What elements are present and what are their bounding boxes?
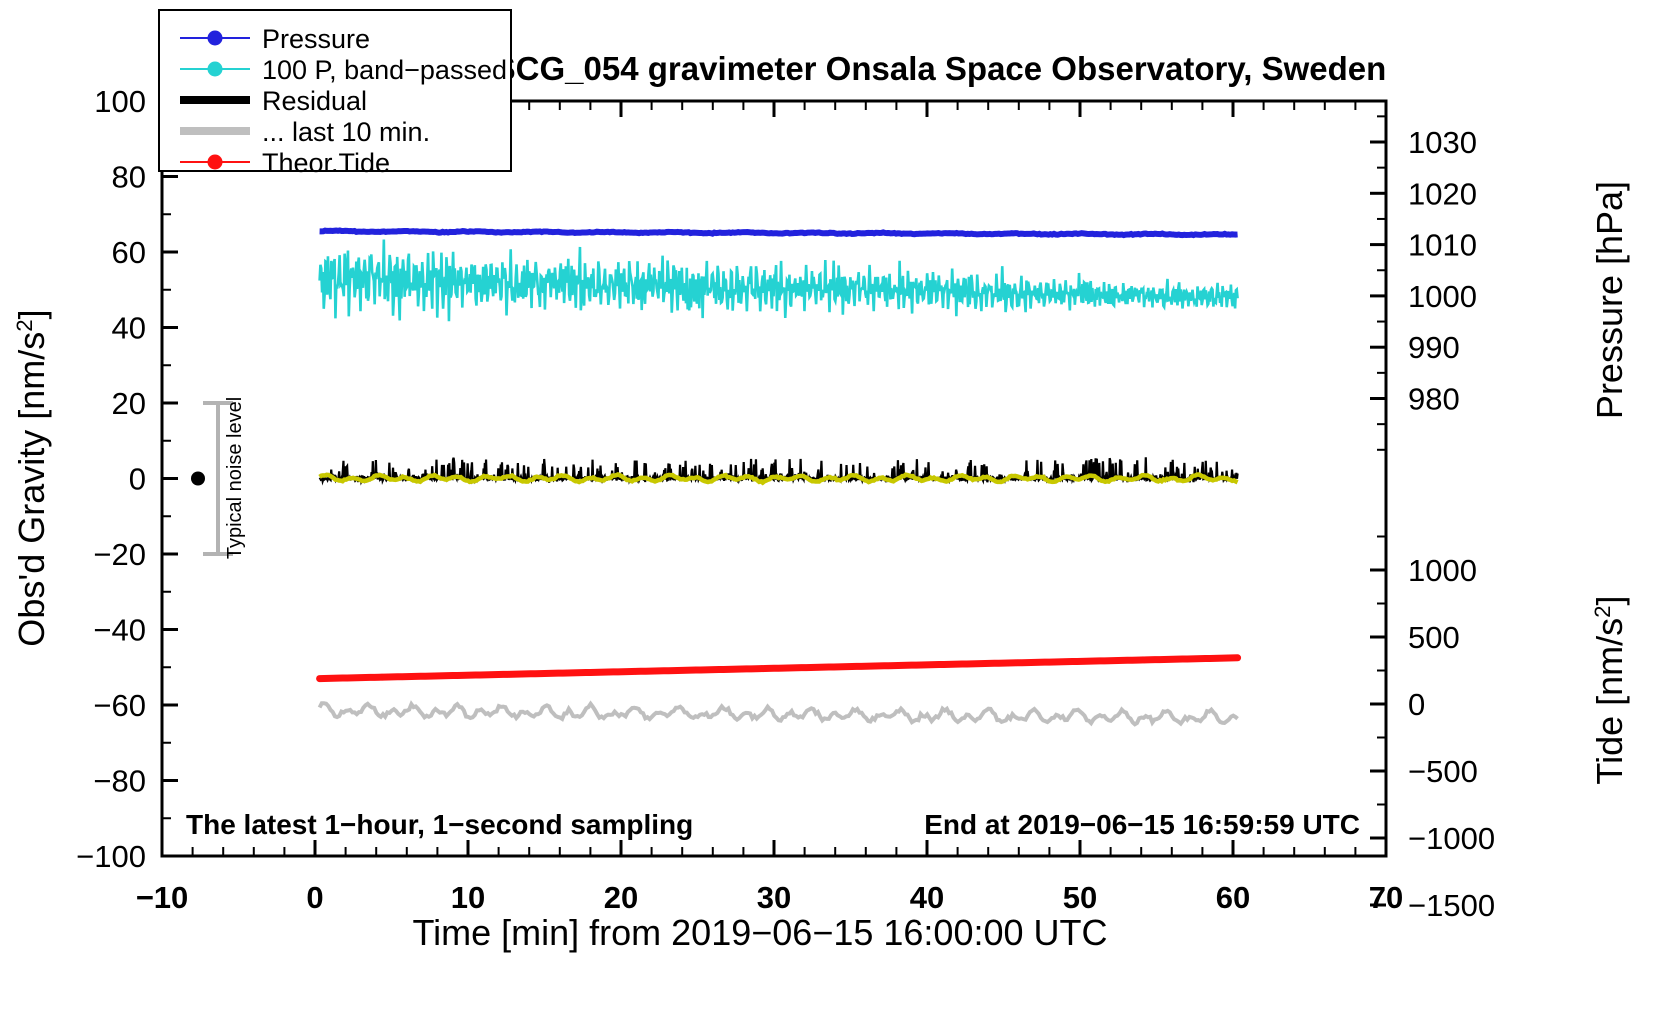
pressure-tick-label: 1000 <box>1408 279 1477 314</box>
pressure-tick-label: 990 <box>1408 330 1460 365</box>
left-axis-title: Obs'd Gravity [nm/s2] <box>11 309 52 646</box>
y-tick-label: 60 <box>112 235 146 270</box>
chart-root: Typical noise level −1001020304050607010… <box>0 0 1660 1020</box>
y-tick-label: 0 <box>129 462 146 497</box>
y-tick-label: 100 <box>94 84 146 119</box>
left-axis-title-main: Obs'd Gravity [nm/s <box>11 332 52 647</box>
pressure-tick-label: 1020 <box>1408 176 1477 211</box>
x-tick-label: 50 <box>1063 880 1097 915</box>
x-tick-label: −10 <box>136 880 189 915</box>
x-tick-label: 70 <box>1369 880 1403 915</box>
x-tick-label: 60 <box>1216 880 1250 915</box>
annotation-bottom-left: The latest 1−hour, 1−second sampling <box>186 809 693 840</box>
x-tick-label: 30 <box>757 880 791 915</box>
legend-marker <box>208 31 223 46</box>
pressure-tick-label: 1010 <box>1408 228 1477 263</box>
x-tick-label: 10 <box>451 880 485 915</box>
tide-tick-label: −500 <box>1408 754 1478 789</box>
annotation-bottom-right: End at 2019−06−15 16:59:59 UTC <box>924 809 1360 840</box>
tide-tick-label: 1000 <box>1408 553 1477 588</box>
page-title: SCG_054 gravimeter Onsala Space Observat… <box>494 50 1387 87</box>
right-tide-axis-title: Tide [nm/s2] <box>1589 595 1630 784</box>
legend-label: 100 P, band−passed <box>262 55 507 85</box>
svg-text:Obs'd Gravity [nm/s2]: Obs'd Gravity [nm/s2] <box>11 309 52 646</box>
bottom-axis-title: Time [min] from 2019−06−15 16:00:00 UTC <box>412 912 1107 953</box>
pressure-tick-label: 980 <box>1408 382 1460 417</box>
right-tide-title-tail: ] <box>1589 595 1630 605</box>
legend-label: Pressure <box>262 24 370 54</box>
legend-label: ... last 10 min. <box>262 117 430 147</box>
y-tick-label: −60 <box>93 688 146 723</box>
gravimeter-time-series-chart: Typical noise level −1001020304050607010… <box>0 0 1660 1020</box>
right-tide-title-sup: 2 <box>1590 605 1615 617</box>
right-tide-title-main: Tide [nm/s <box>1589 618 1630 785</box>
y-tick-label: 40 <box>112 311 146 346</box>
y-tick-label: −20 <box>93 537 146 572</box>
noise-level-label: Typical noise level <box>224 397 246 559</box>
right-pressure-axis-title: Pressure [hPa] <box>1589 181 1630 419</box>
left-axis-title-tail: ] <box>11 309 52 319</box>
tide-tick-label: 500 <box>1408 620 1460 655</box>
legend-marker <box>208 155 223 170</box>
tide-tick-label: −1000 <box>1408 821 1495 856</box>
y-tick-label: −40 <box>93 613 146 648</box>
y-tick-label: −80 <box>93 764 146 799</box>
tide-tick-label: 0 <box>1408 687 1425 722</box>
x-tick-label: 0 <box>306 880 323 915</box>
legend-marker <box>208 62 223 77</box>
left-axis-title-sup: 2 <box>12 319 37 331</box>
x-tick-label: 20 <box>604 880 638 915</box>
y-tick-label: 80 <box>112 160 146 195</box>
y-tick-label: 20 <box>112 386 146 421</box>
legend-label: Theor.Tide <box>262 148 390 178</box>
pressure-tick-label: 1030 <box>1408 125 1477 160</box>
y-tick-label: −100 <box>76 839 146 874</box>
svg-text:Tide [nm/s2]: Tide [nm/s2] <box>1589 595 1630 784</box>
x-tick-label: 40 <box>910 880 944 915</box>
legend[interactable]: Pressure100 P, band−passedResidual... la… <box>159 10 511 178</box>
legend-label: Residual <box>262 86 367 116</box>
tide-tick-label: −1500 <box>1408 888 1495 923</box>
